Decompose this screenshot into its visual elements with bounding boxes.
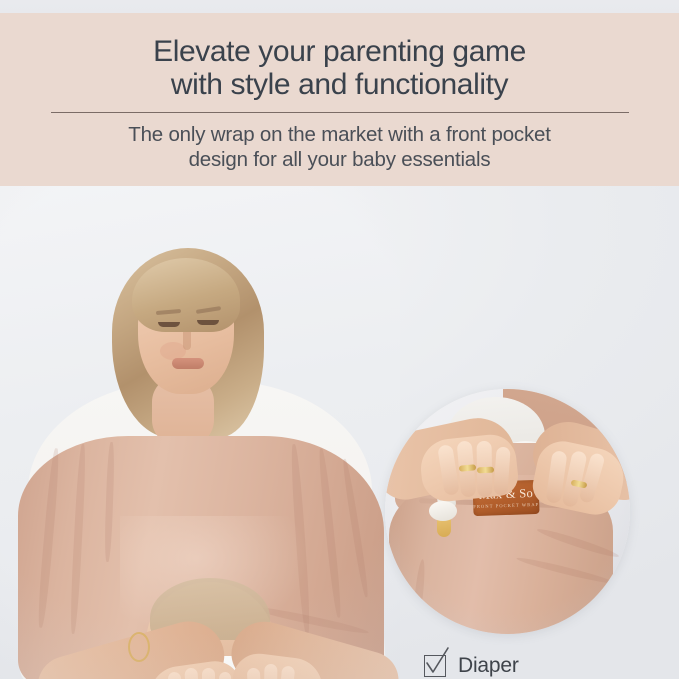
mother-nose	[183, 332, 191, 350]
top-edge-strip	[0, 0, 679, 13]
subheadline-line-2: design for all your baby essentials	[26, 147, 653, 172]
mother-eye-left	[158, 322, 180, 327]
checkmark-icon	[424, 655, 446, 677]
headline-line-2: with style and functionality	[30, 68, 649, 101]
finger	[202, 668, 215, 679]
header-banner: Elevate your parenting game with style a…	[0, 13, 679, 186]
mother-lips	[172, 358, 204, 369]
checklist-label: Diaper	[458, 654, 519, 678]
pocket-closeup-inset: Max & So FRONT POCKET WRAP	[385, 389, 630, 634]
header-divider	[51, 112, 629, 113]
main-lifestyle-photo: Max & So FRONT POCKET WRAP	[0, 186, 400, 679]
subheadline: The only wrap on the market with a front…	[0, 122, 679, 172]
inset-vignette	[385, 389, 630, 634]
subheadline-line-1: The only wrap on the market with a front…	[26, 122, 653, 147]
headline: Elevate your parenting game with style a…	[0, 35, 679, 101]
photo-area: Max & So FRONT POCKET WRAP	[0, 186, 679, 679]
mother-earring	[128, 632, 150, 662]
headline-line-1: Elevate your parenting game	[30, 35, 649, 68]
finger	[264, 664, 278, 679]
essentials-checklist: Diaper Pacifier Toy	[424, 645, 674, 679]
checklist-item-diaper: Diaper	[424, 645, 674, 679]
product-feature-image: Elevate your parenting game with style a…	[0, 0, 679, 679]
mother-eye-right	[197, 320, 219, 325]
